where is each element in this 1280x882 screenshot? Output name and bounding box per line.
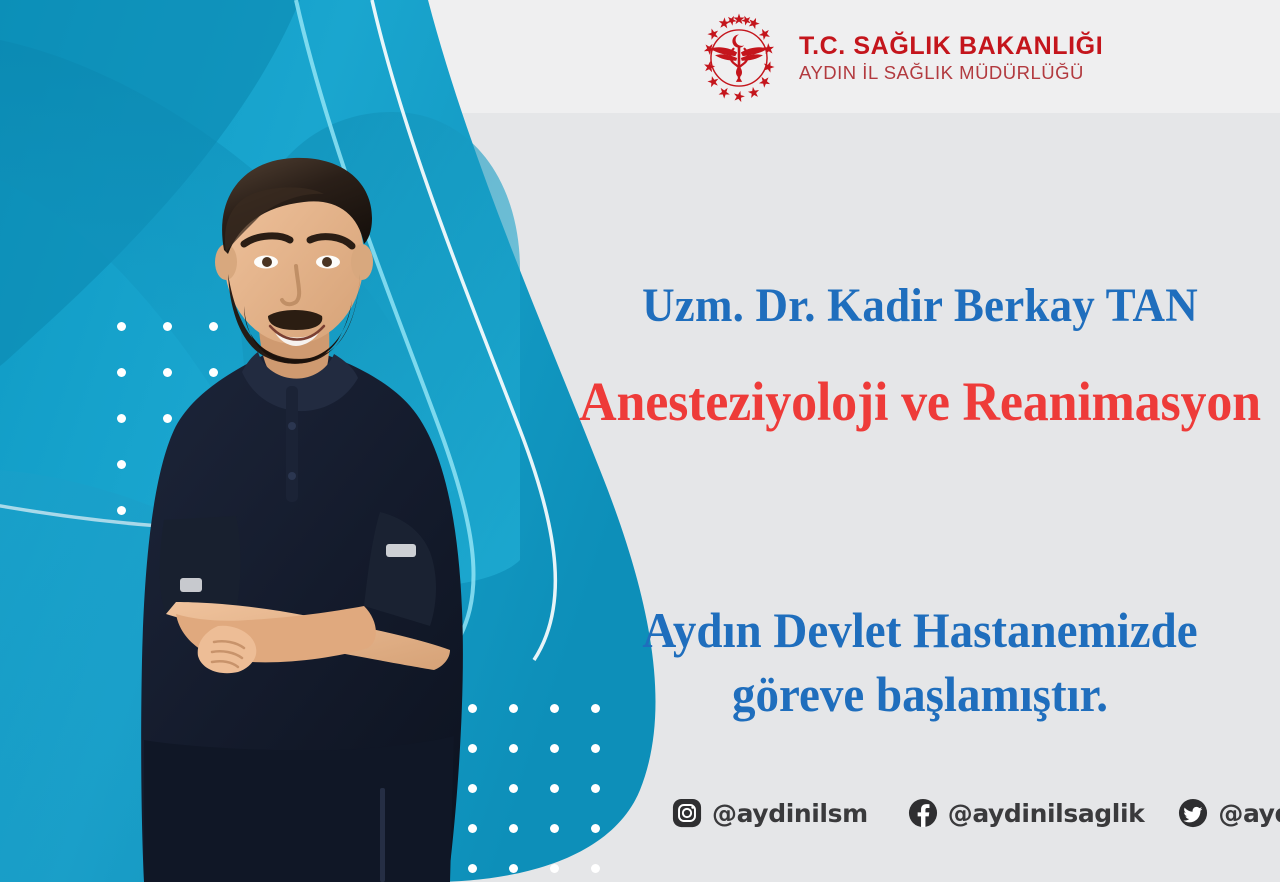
- button: [288, 422, 296, 430]
- crescent-icon: [732, 35, 744, 48]
- ministry-subtitle: AYDIN İL SAĞLIK MÜDÜRLÜĞÜ: [799, 62, 1103, 83]
- blue-artwork: [0, 0, 700, 882]
- pocket-tab: [386, 544, 416, 557]
- torso-lower: [144, 736, 454, 882]
- ministry-logo: T.C. SAĞLIK BAKANLIĞI AYDIN İL SAĞLIK MÜ…: [693, 12, 1103, 104]
- turkish-health-ministry-emblem-icon: [693, 12, 785, 104]
- ministry-title: T.C. SAĞLIK BAKANLIĞI: [799, 32, 1103, 60]
- facebook-handle[interactable]: @aydinilsaglik: [948, 799, 1145, 828]
- social-twitter[interactable]: @aydinilsm: [1178, 798, 1280, 828]
- shirt-placket: [286, 386, 298, 502]
- social-media-bar: @aydinilsm @aydinilsaglik @aydinilsm: [672, 791, 1280, 835]
- pupil-right: [322, 257, 332, 267]
- facebook-icon[interactable]: [908, 798, 938, 828]
- button: [288, 472, 296, 480]
- pupil-left: [262, 257, 272, 267]
- ministry-logo-text: T.C. SAĞLIK BAKANLIĞI AYDIN İL SAĞLIK MÜ…: [799, 32, 1103, 83]
- ear-right: [351, 244, 373, 280]
- social-facebook[interactable]: @aydinilsaglik: [908, 798, 1145, 828]
- instagram-handle[interactable]: @aydinilsm: [712, 799, 868, 828]
- instagram-icon[interactable]: [672, 798, 702, 828]
- doctor-portrait: [118, 140, 538, 882]
- twitter-handle[interactable]: @aydinilsm: [1218, 799, 1280, 828]
- announcement-poster: T.C. SAĞLIK BAKANLIĞI AYDIN İL SAĞLIK MÜ…: [0, 0, 1280, 882]
- social-instagram[interactable]: @aydinilsm: [672, 798, 868, 828]
- sleeve-left: [160, 516, 241, 614]
- sleeve-tag-left: [180, 578, 202, 592]
- twitter-icon[interactable]: [1178, 798, 1208, 828]
- hem-slit: [380, 788, 385, 882]
